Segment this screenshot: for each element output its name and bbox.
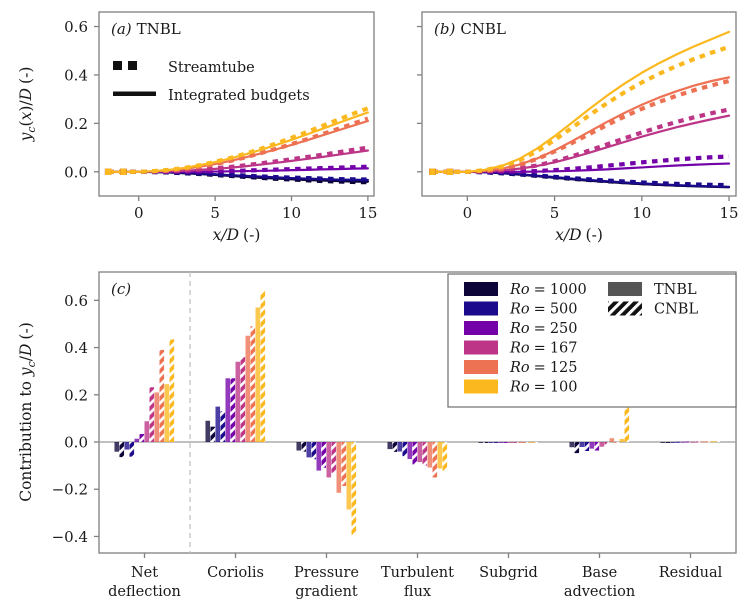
budget-bar xyxy=(316,442,321,471)
budget-bar xyxy=(615,442,620,443)
x-tick-label: 15 xyxy=(719,204,738,222)
category-label: Subgrid xyxy=(479,565,538,581)
x-tick-label: 0 xyxy=(134,204,144,222)
y-tick-label: 0.0 xyxy=(64,163,88,181)
legend-color-swatch xyxy=(464,360,498,374)
budget-bar xyxy=(337,442,342,493)
budget-bar xyxy=(524,442,529,443)
legend-color-swatch xyxy=(464,302,498,316)
budget-bar xyxy=(574,442,579,453)
budget-bar xyxy=(225,378,230,442)
budget-bar xyxy=(347,442,352,510)
budget-bar xyxy=(296,442,301,451)
budget-bar xyxy=(165,384,170,442)
budget-bar xyxy=(134,439,139,442)
category-label: advection xyxy=(564,584,635,600)
budget-bar xyxy=(407,442,412,459)
budget-bar xyxy=(660,442,665,443)
budget-bar xyxy=(701,442,706,443)
y-tick-label: 0.2 xyxy=(64,386,88,404)
legend-color-swatch xyxy=(464,380,498,394)
budget-bar xyxy=(438,442,443,468)
budget-bar xyxy=(327,442,332,477)
legend-label: Integrated budgets xyxy=(168,88,310,104)
budget-bar xyxy=(402,442,407,456)
budget-bar xyxy=(483,442,488,443)
y-tick-label: 0.4 xyxy=(64,66,88,84)
legend-ro-label: Ro=500 xyxy=(509,302,578,318)
y-tick-label: 0.2 xyxy=(64,115,88,133)
budget-bar xyxy=(488,442,493,443)
upstream-marker xyxy=(429,169,435,175)
budget-bar xyxy=(236,362,241,442)
legend-color-swatch xyxy=(464,321,498,335)
upstream-marker xyxy=(105,169,111,175)
budget-bar xyxy=(675,442,680,443)
category-label: Base xyxy=(582,565,617,581)
x-tick-label: 5 xyxy=(210,204,220,222)
legend-case-swatch xyxy=(608,282,642,296)
budget-bar xyxy=(256,307,261,442)
legend-ro-label: Ro=100 xyxy=(509,380,578,396)
budget-bar xyxy=(114,442,119,452)
budget-bar xyxy=(504,442,509,443)
panel-tag: (c) xyxy=(111,280,131,298)
budget-bar xyxy=(301,442,306,452)
budget-bar xyxy=(170,339,175,442)
budget-bar xyxy=(665,442,670,443)
legend-case-label: TNBL xyxy=(654,282,697,298)
y-tick-label: 0.0 xyxy=(64,434,88,452)
category-label: deflection xyxy=(108,584,181,600)
legend-streamtube-swatch xyxy=(128,61,137,70)
x-axis-label: x/D(-) xyxy=(555,226,603,244)
category-label: Turbulent xyxy=(381,565,454,581)
budget-bar xyxy=(205,421,210,442)
budget-bar xyxy=(569,442,574,447)
budget-bar xyxy=(519,442,524,443)
budget-bar xyxy=(387,442,392,449)
legend-color-swatch xyxy=(464,282,498,296)
budget-bar xyxy=(680,442,685,443)
budget-bar xyxy=(443,442,448,471)
budget-bar xyxy=(691,442,696,443)
budget-bar xyxy=(150,387,155,442)
budget-bar xyxy=(529,442,534,443)
budget-bar xyxy=(686,442,691,443)
budget-bar xyxy=(220,411,225,442)
budget-bar xyxy=(493,442,498,443)
x-tick-label: 10 xyxy=(282,204,301,222)
budget-bar xyxy=(620,439,625,442)
budget-bar xyxy=(352,442,357,535)
panel-tag: (b)CNBL xyxy=(434,20,506,38)
budget-bar xyxy=(600,442,605,447)
budget-bar xyxy=(418,442,423,462)
legend-ro-label: Ro=250 xyxy=(509,321,578,337)
budget-bar xyxy=(478,442,483,443)
budget-bar xyxy=(215,407,220,442)
category-label: Residual xyxy=(659,565,723,581)
panel-c-budget: −0.4−0.20.00.20.40.6NetdeflectionCorioli… xyxy=(17,272,736,600)
legend-color-swatch xyxy=(464,341,498,355)
upstream-marker xyxy=(447,169,453,175)
category-label: flux xyxy=(404,584,431,600)
budget-bar xyxy=(251,326,256,442)
budget-bar xyxy=(514,442,519,443)
budget-bar xyxy=(119,442,124,457)
legend-integrated-swatch xyxy=(113,92,156,97)
x-tick-label: 5 xyxy=(550,204,560,222)
budget-bar xyxy=(433,442,438,477)
budget-bar xyxy=(413,442,418,464)
budget-bar xyxy=(509,442,514,443)
y-tick-label: −0.4 xyxy=(52,528,88,546)
x-tick-label: 10 xyxy=(632,204,651,222)
legend-streamtube-swatch xyxy=(113,61,122,70)
panel-tag: (a)TNBL xyxy=(111,20,181,38)
budget-bar xyxy=(716,441,721,442)
budget-bar xyxy=(155,392,160,442)
budget-bar xyxy=(610,438,615,442)
budget-bar xyxy=(706,441,711,442)
budget-bar xyxy=(210,427,215,442)
y-axis-label: Contribution to yc/D(-) xyxy=(17,322,38,502)
budget-bar xyxy=(129,442,134,457)
budget-bar xyxy=(579,442,584,447)
budget-bar xyxy=(392,442,397,452)
x-axis-label: x/D(-) xyxy=(213,226,261,244)
budget-bar xyxy=(311,442,316,459)
budget-bar xyxy=(584,442,589,451)
figure-canvas: 0510150.00.20.40.6(a)TNBLx/D(-)yc(x)/D(-… xyxy=(0,0,747,616)
budget-bar xyxy=(428,442,433,468)
category-label: Net xyxy=(131,565,158,581)
x-tick-label: 0 xyxy=(463,204,473,222)
budget-bar xyxy=(711,441,716,442)
budget-bar xyxy=(342,442,347,486)
figure-root: 0510150.00.20.40.6(a)TNBLx/D(-)yc(x)/D(-… xyxy=(0,0,747,616)
legend-case-swatch xyxy=(608,302,642,316)
category-label: Coriolis xyxy=(207,565,264,581)
budget-bar xyxy=(124,442,129,450)
budget-bar xyxy=(231,378,236,442)
legend-case-label: CNBL xyxy=(654,302,698,318)
budget-bar xyxy=(140,434,145,442)
budget-bar xyxy=(246,336,251,442)
budget-bar xyxy=(306,442,311,457)
category-label: gradient xyxy=(295,584,358,600)
budget-bar xyxy=(696,442,701,443)
x-tick-label: 15 xyxy=(358,204,377,222)
budget-bar xyxy=(322,442,327,468)
budget-bar xyxy=(261,291,266,442)
budget-bar xyxy=(397,442,402,451)
y-tick-label: 0.6 xyxy=(64,292,88,310)
category-label: Pressure xyxy=(294,565,359,581)
legend-label: Streamtube xyxy=(168,60,255,76)
y-tick-label: 0.4 xyxy=(64,339,88,357)
upstream-marker xyxy=(120,169,126,175)
legend-ro-label: Ro=167 xyxy=(509,341,578,357)
budget-bar xyxy=(595,442,600,451)
budget-bar xyxy=(605,442,610,445)
budget-bar xyxy=(145,421,150,442)
budget-bar xyxy=(589,442,594,449)
y-tick-label: −0.2 xyxy=(52,481,88,499)
y-tick-label: 0.6 xyxy=(64,18,88,36)
budget-bar xyxy=(332,442,337,473)
budget-bar xyxy=(498,442,503,443)
budget-bar xyxy=(423,442,428,466)
budget-bar xyxy=(160,350,165,442)
legend-ro-label: Ro=125 xyxy=(509,360,578,376)
budget-bar xyxy=(241,357,246,442)
budget-bar xyxy=(534,442,539,443)
budget-bar xyxy=(670,442,675,443)
